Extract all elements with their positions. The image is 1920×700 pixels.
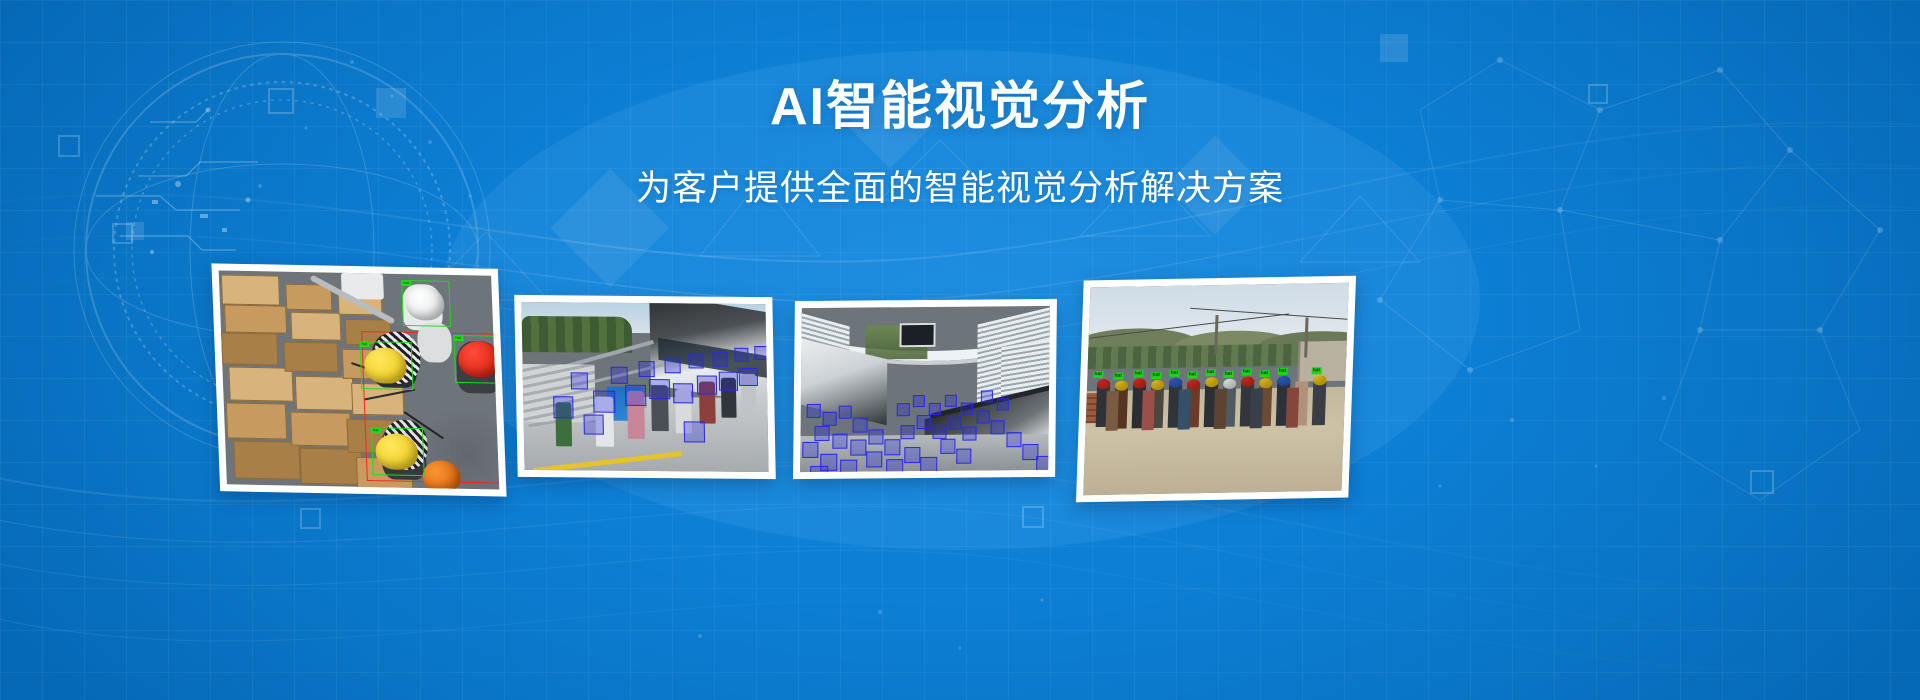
detection-box <box>962 427 976 441</box>
detection-box <box>897 403 910 416</box>
detection-label: hat <box>1133 370 1143 377</box>
worker <box>1214 389 1227 429</box>
detection-box <box>649 379 670 399</box>
worker <box>1250 388 1263 428</box>
detection-box <box>904 447 920 463</box>
detection-box <box>997 398 1009 410</box>
ai-vision-hero-banner: AI智能视觉分析 为客户提供全面的智能视觉分析解决方案 <box>0 0 1920 700</box>
detection-label: hat <box>1169 370 1179 377</box>
helmet-white <box>1223 379 1236 389</box>
detection-box <box>584 414 604 434</box>
detection-label: hat <box>1151 372 1161 379</box>
detection-label: hat <box>1223 371 1233 378</box>
detection-box <box>886 459 903 472</box>
detection-box <box>932 425 946 439</box>
worker <box>1178 389 1191 429</box>
detection-box <box>697 375 717 394</box>
decor-square-2 <box>112 223 133 244</box>
gallery-photo-platform-crowd-detection[interactable] <box>514 295 776 479</box>
detection-box <box>1006 432 1021 447</box>
info-screen <box>899 323 935 347</box>
page-title: AI智能视觉分析 <box>0 78 1920 138</box>
carton <box>221 274 280 305</box>
detection-box <box>802 442 818 458</box>
carton <box>221 332 278 365</box>
detection-box <box>839 406 852 419</box>
helmet-blue <box>1277 376 1290 386</box>
detection-box <box>814 426 829 441</box>
detection-box <box>868 429 883 444</box>
platform-scene <box>521 302 768 472</box>
helmet-red <box>1133 378 1146 388</box>
detection-box <box>977 410 990 423</box>
gallery-photo-station-escalator-crowd[interactable] <box>793 299 1057 479</box>
detection-box <box>940 439 955 454</box>
detection-box <box>956 449 971 464</box>
helmet-red <box>1241 376 1254 386</box>
detection-box <box>553 396 573 418</box>
detection-box <box>866 451 882 467</box>
helmet-yellow <box>1313 375 1326 385</box>
floor-shade <box>414 404 499 490</box>
detection-label: hat <box>371 427 381 433</box>
detection-box <box>734 348 748 362</box>
detection-box <box>754 346 768 360</box>
carton <box>300 448 363 485</box>
detection-box <box>712 352 727 367</box>
carton <box>224 305 287 334</box>
detection-label: hat <box>1093 371 1103 378</box>
detection-box <box>850 440 866 456</box>
detection-box: hat <box>360 341 414 390</box>
detection-box <box>593 391 615 413</box>
detection-box <box>807 404 821 418</box>
detection-label: hat <box>1278 368 1288 375</box>
helmet-yellow <box>1151 380 1164 390</box>
detection-box <box>719 372 738 391</box>
detection-box <box>884 439 900 455</box>
detection-label: hat <box>1312 367 1322 374</box>
detection-box <box>949 417 962 430</box>
worker <box>1286 388 1299 428</box>
helmet-yellow <box>1259 378 1272 388</box>
worker <box>1312 379 1327 425</box>
detection-box <box>611 367 628 384</box>
detection-box <box>638 361 654 377</box>
detection-box <box>739 368 758 386</box>
warehouse-scene: hat hat hat hat <box>219 270 500 489</box>
detection-box <box>673 383 693 403</box>
gallery-photo-outdoor-worker-hat-detection[interactable]: hat hat hat hat hat hat hat hat hat hat … <box>1076 276 1356 503</box>
detection-box <box>945 395 957 407</box>
detection-box: hat <box>453 335 499 384</box>
carton <box>295 376 354 411</box>
carton <box>226 402 287 439</box>
detection-box <box>920 457 937 472</box>
outdoor-scene: hat hat hat hat hat hat hat hat hat hat … <box>1083 283 1349 495</box>
detection-box <box>810 466 828 472</box>
detection-box <box>900 425 914 439</box>
detection-label: hat <box>1205 369 1215 376</box>
gallery-photo-warehouse-helmet-detection[interactable]: hat hat hat hat <box>211 263 506 496</box>
detection-box <box>840 460 857 472</box>
detection-photo-gallery: hat hat hat hat <box>0 258 1920 518</box>
detection-label: hat <box>1113 373 1123 380</box>
carton <box>228 367 293 402</box>
helmet-red <box>1097 379 1110 389</box>
detection-box <box>853 417 868 432</box>
hero-text-block: AI智能视觉分析 为客户提供全面的智能视觉分析解决方案 <box>0 78 1920 211</box>
detection-box <box>625 385 646 406</box>
detection-box <box>571 372 588 389</box>
detection-box <box>1036 456 1050 472</box>
detection-label: hat <box>453 335 463 341</box>
detection-box <box>913 395 925 407</box>
helmet-red <box>1187 379 1200 389</box>
detection-label: hat <box>401 280 411 286</box>
page-subtitle: 为客户提供全面的智能视觉分析解决方案 <box>0 160 1920 211</box>
carton <box>233 440 301 479</box>
carton <box>283 342 338 373</box>
helmet-blue <box>1169 378 1182 388</box>
carton <box>290 312 341 341</box>
worker-body <box>417 322 453 363</box>
detection-label: hat <box>360 341 370 347</box>
detection-box <box>929 403 941 415</box>
detection-box <box>684 421 705 442</box>
worker <box>1105 391 1118 431</box>
detection-label: hat <box>1187 371 1197 378</box>
detection-label: hat <box>1259 370 1269 377</box>
detection-box <box>823 412 837 426</box>
worker <box>1142 390 1155 430</box>
detection-box <box>688 353 703 368</box>
detection-box <box>981 390 993 402</box>
tree-line <box>522 316 633 353</box>
carton <box>290 412 351 447</box>
helmet-yellow <box>1115 381 1128 391</box>
detection-box <box>991 420 1005 434</box>
detection-box <box>832 434 847 449</box>
decor-square-3 <box>126 222 144 240</box>
detection-box <box>961 403 973 415</box>
decor-square-6 <box>1380 34 1408 62</box>
station-scene <box>800 306 1050 472</box>
detection-box <box>917 415 931 429</box>
helmet-yellow <box>1205 377 1218 387</box>
detection-box: hat <box>401 280 451 327</box>
detection-box <box>664 357 680 373</box>
detection-label: hat <box>1241 368 1251 375</box>
